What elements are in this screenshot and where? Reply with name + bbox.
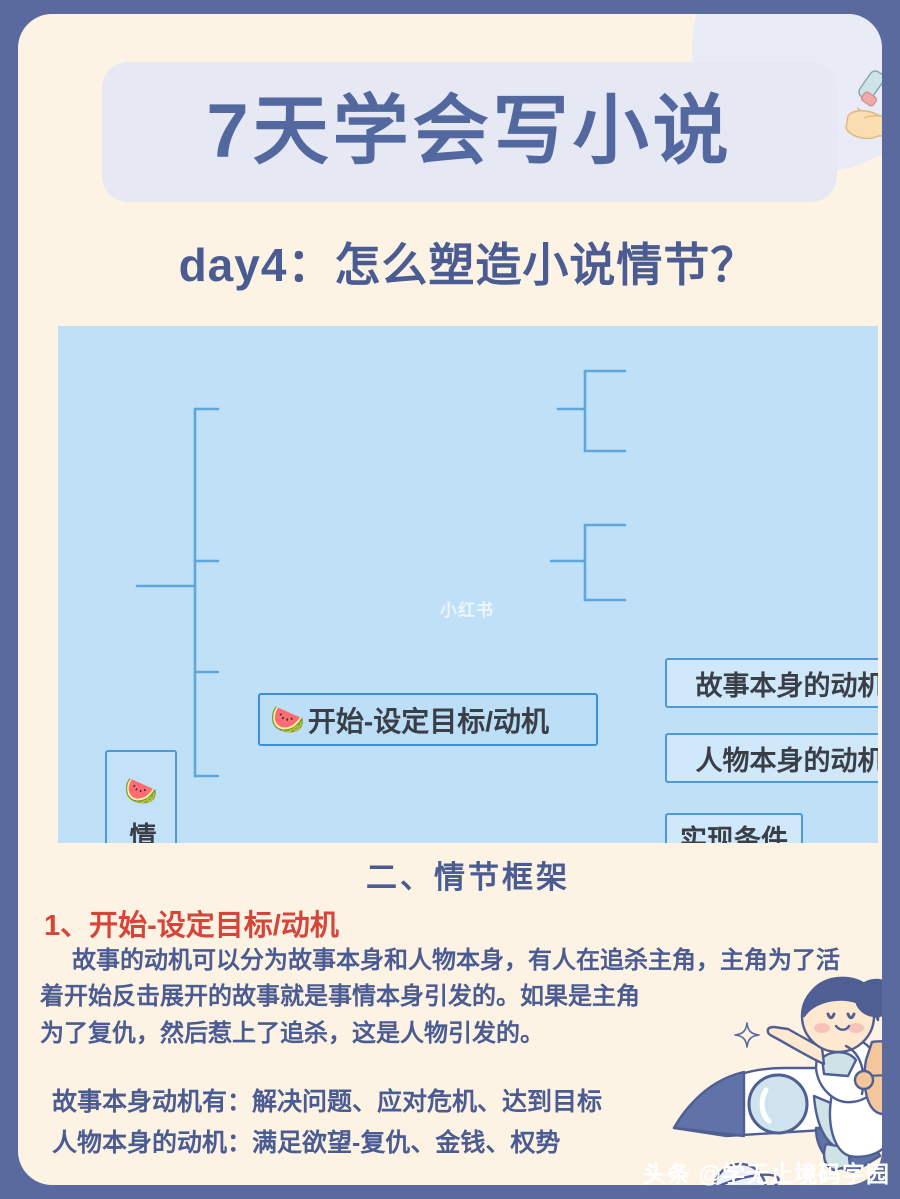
paragraph-line-3: 为了复仇，然后惹上了追杀，这是人物引发的。 — [40, 1020, 544, 1047]
motive-list-line-2: 人物本身的动机：满足欲望-复仇、金钱、权势 — [52, 1123, 712, 1164]
paragraph-line-2: 着开始反击展开的故事就是事情本身引发的。如果是主角 — [40, 983, 640, 1010]
page-title: 7天学会写小说 — [102, 62, 837, 202]
mindmap: 🍉 情节框架 🍉 🍉 开始-设定目标/动机 故事本身的动机 人物本身的动机 🍉 … — [58, 326, 878, 843]
motive-list: 故事本身动机有：解决问题、应对危机、达到目标 人物本身的动机：满足欲望-复仇、金… — [52, 1082, 712, 1163]
watermelon-icon: 🍉 — [125, 778, 157, 822]
mindmap-root-node[interactable]: 🍉 情节框架 🍉 — [105, 750, 177, 843]
motive-list-line-1: 故事本身动机有：解决问题、应对危机、达到目标 — [52, 1082, 712, 1123]
sub-heading: 1、开始-设定目标/动机 — [44, 902, 339, 944]
page-subtitle: day4：怎么塑造小说情节？ — [18, 229, 882, 295]
mindmap-node-start[interactable]: 🍉 开始-设定目标/动机 — [258, 693, 598, 746]
mindmap-node-story-motive-label: 故事本身的动机 — [696, 664, 879, 703]
watermelon-icon: 🍉 — [270, 703, 305, 736]
poster-page: 7天学会写小说 day4：怎么塑造小说情节？ — [0, 0, 900, 1199]
section-heading: 二、情节框架 — [18, 852, 882, 897]
mindmap-node-story-motive[interactable]: 故事本身的动机 — [665, 658, 878, 708]
mindmap-watermark: 小红书 — [440, 596, 494, 621]
mindmap-node-character-motive-label: 人物本身的动机 — [696, 739, 879, 778]
mindmap-node-conditions[interactable]: 实现条件 — [665, 813, 803, 843]
footer-watermark: 头条 @学无止境码字园 — [640, 1155, 890, 1191]
mindmap-node-start-label: 开始-设定目标/动机 — [308, 700, 549, 740]
mindmap-node-character-motive[interactable]: 人物本身的动机 — [665, 733, 878, 783]
hand-with-pen-icon — [818, 56, 882, 161]
mindmap-root-label: 情节框架 — [122, 822, 161, 844]
mindmap-node-conditions-label: 实现条件 — [680, 818, 788, 844]
girl-riding-rocket-illustration — [666, 976, 882, 1185]
paragraph-line-1: 故事的动机可以分为故事本身和人物本身，有人在追杀主角，主角为了活 — [72, 947, 840, 974]
content-card: 7天学会写小说 day4：怎么塑造小说情节？ — [18, 14, 882, 1185]
